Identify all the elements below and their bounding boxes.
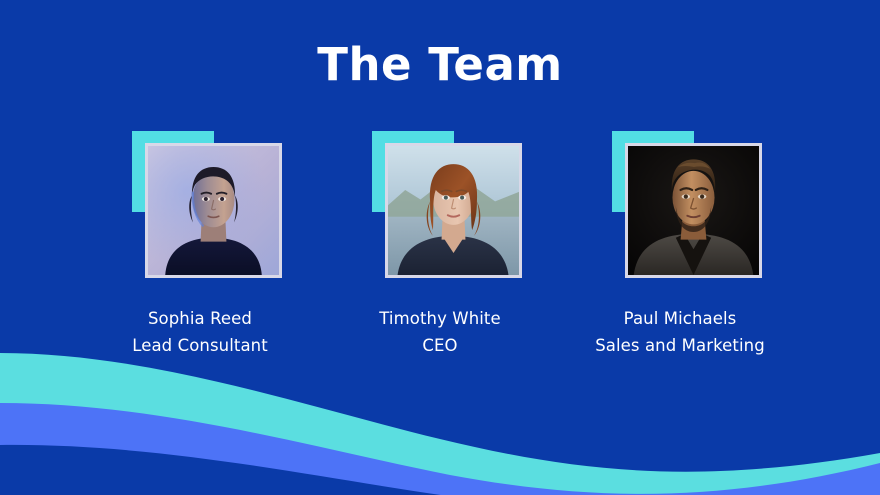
photo-frame (145, 143, 282, 278)
team-member-card[interactable]: Paul Michaels Sales and Marketing (560, 128, 800, 357)
photo-frame (625, 143, 762, 278)
photo-wrap (372, 128, 522, 278)
team-member-card[interactable]: Timothy White CEO (320, 128, 560, 357)
member-caption: Timothy White CEO (379, 308, 501, 357)
photo-wrap (132, 128, 282, 278)
portrait-sophia-reed-image (148, 146, 279, 275)
wave-deep-blue-left (0, 447, 880, 495)
slide-canvas: The Team (0, 0, 880, 495)
photo-frame (385, 143, 522, 278)
member-name: Paul Michaels (595, 308, 765, 330)
wave-decoration (0, 335, 880, 495)
wave-deep-blue (0, 445, 880, 495)
team-member-card[interactable]: Sophia Reed Lead Consultant (80, 128, 320, 357)
page-title: The Team (0, 41, 880, 88)
member-caption: Sophia Reed Lead Consultant (132, 308, 268, 357)
avatar (388, 146, 519, 275)
member-role: Sales and Marketing (595, 335, 765, 357)
team-member-list: Sophia Reed Lead Consultant (0, 128, 880, 357)
member-name: Sophia Reed (132, 308, 268, 330)
avatar (148, 146, 279, 275)
member-role: Lead Consultant (132, 335, 268, 357)
wave-cyan (0, 353, 880, 495)
avatar (628, 146, 759, 275)
portrait-paul-michaels-image (628, 146, 759, 275)
member-caption: Paul Michaels Sales and Marketing (595, 308, 765, 357)
portrait-timothy-white-image (388, 146, 519, 275)
photo-wrap (612, 128, 762, 278)
member-name: Timothy White (379, 308, 501, 330)
wave-periwinkle (0, 403, 880, 495)
member-role: CEO (379, 335, 501, 357)
